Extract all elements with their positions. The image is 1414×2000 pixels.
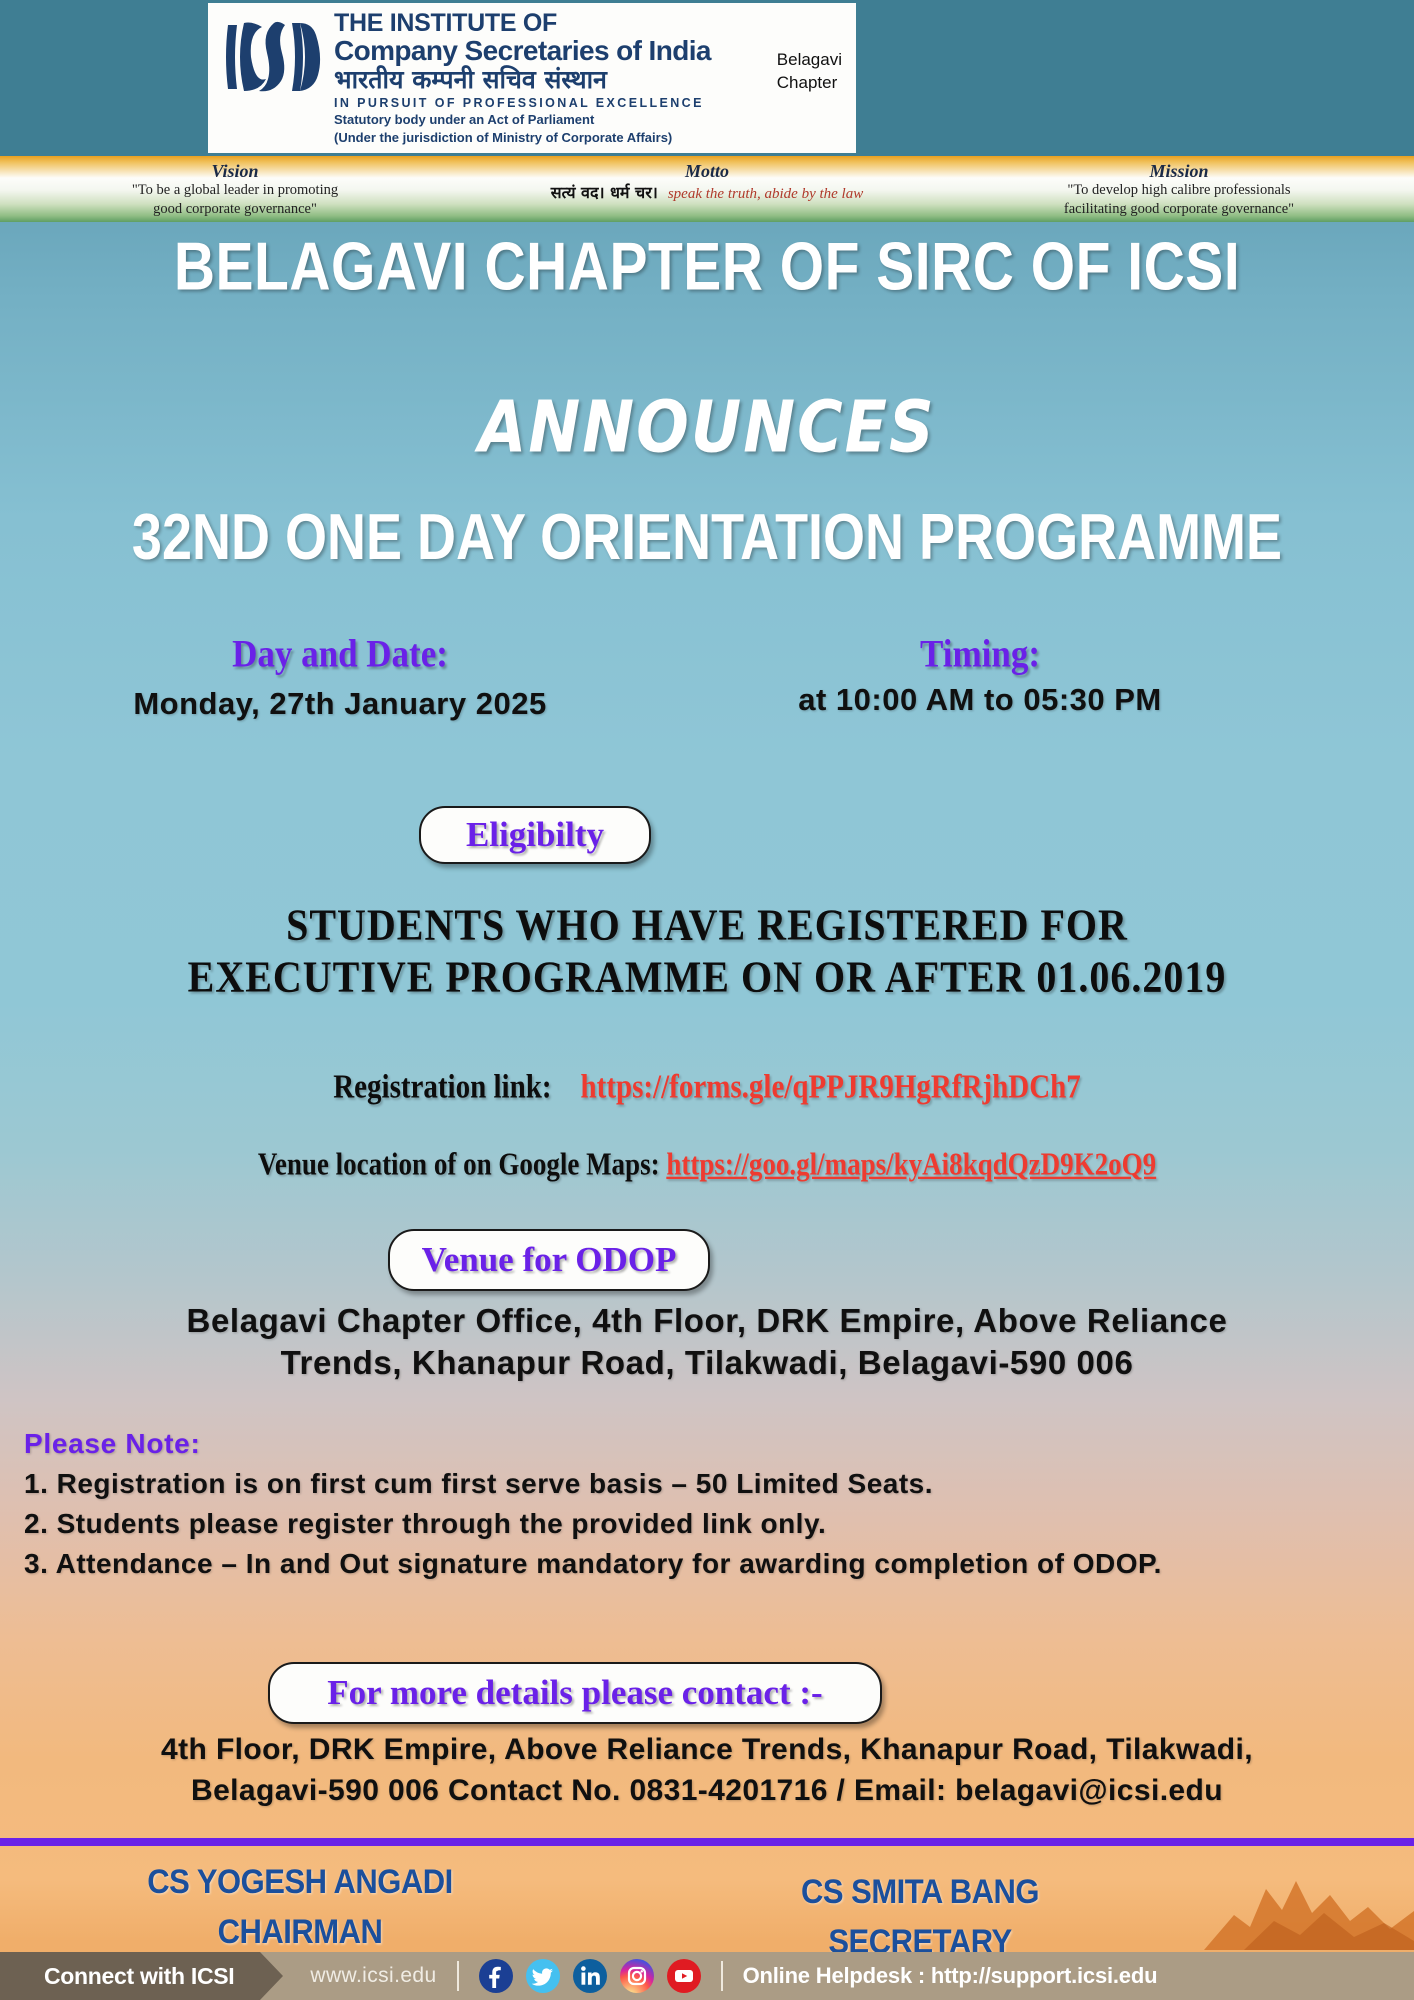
registration-link-label: Registration link: <box>333 1068 551 1106</box>
letterhead-text: THE INSTITUTE OF Company Secretaries of … <box>334 11 846 146</box>
footer-divider-2 <box>721 1961 723 1991</box>
vision-text-line1: "To be a global leader in promoting <box>0 182 470 199</box>
notes-title: Please Note: <box>24 1428 1384 1460</box>
mission-title: Mission <box>944 156 1414 180</box>
motto-title: Motto <box>470 156 944 180</box>
twitter-icon[interactable] <box>526 1959 560 1993</box>
maps-link-row: Venue location of on Google Maps: https:… <box>0 1146 1414 1183</box>
vision-motto-mission-strip: Vision "To be a global leader in promoti… <box>0 156 1414 222</box>
purple-divider <box>0 1838 1414 1846</box>
eligibility-pill: Eligibilty <box>419 806 651 864</box>
youtube-icon[interactable] <box>667 1959 701 1993</box>
motto-english: speak the truth, abide by the law <box>668 186 863 203</box>
chairman-name: CS YOGESH ANGADI <box>40 1857 560 1907</box>
chapter-line1: Belagavi <box>777 49 842 72</box>
footer-bar: Connect with ICSI www.icsi.edu Online He… <box>0 1952 1414 2000</box>
venue-address-line-2: Trends, Khanapur Road, Tilakwadi, Belaga… <box>0 1342 1414 1384</box>
venue-address: Belagavi Chapter Office, 4th Floor, DRK … <box>0 1300 1414 1384</box>
contact-address-line-1: 4th Floor, DRK Empire, Above Reliance Tr… <box>0 1730 1414 1771</box>
maps-link-url[interactable]: https://goo.gl/maps/kyAi8kqdQzD9K2oQ9 <box>666 1146 1156 1181</box>
footer-divider-1 <box>457 1961 459 1991</box>
note-item-3: 3. Attendance – In and Out signature man… <box>24 1548 1384 1580</box>
connect-with-icsi-tag: Connect with ICSI <box>0 1952 260 2000</box>
poster-root: THE INSTITUTE OF Company Secretaries of … <box>0 0 1414 2000</box>
title-line-1: BELAGAVI CHAPTER OF SIRC OF ICSI <box>0 228 1414 306</box>
social-links <box>479 1959 701 1993</box>
contact-address-line-2: Belagavi-590 006 Contact No. 0831-420171… <box>0 1771 1414 1812</box>
title-programme: 32ND ONE DAY ORIENTATION PROGRAMME <box>0 500 1414 574</box>
mission-text-line2: facilitating good corporate governance" <box>944 201 1414 218</box>
motto-row: सत्यं वद। धर्म चर। speak the truth, abid… <box>470 181 944 203</box>
org-hindi: भारतीय कम्पनी सचिव संस्थान <box>334 66 846 94</box>
day-date-value: Monday, 27th January 2025 <box>60 686 620 722</box>
facebook-icon[interactable] <box>479 1959 513 1993</box>
motto-block: Motto सत्यं वद। धर्म चर। speak the truth… <box>470 156 944 222</box>
notes-block: Please Note: 1. Registration is on first… <box>24 1428 1384 1580</box>
venue-pill: Venue for ODOP <box>388 1229 710 1291</box>
org-line2: Company Secretaries of India <box>334 36 846 65</box>
connect-label: Connect with ICSI <box>44 1963 234 1990</box>
secretary-name: CS SMITA BANG <box>660 1867 1180 1917</box>
day-date-block: Day and Date: Monday, 27th January 2025 <box>60 632 620 722</box>
statutory-line1: Statutory body under an Act of Parliamen… <box>334 112 846 128</box>
icsi-letterhead: THE INSTITUTE OF Company Secretaries of … <box>208 3 856 153</box>
note-item-2: 2. Students please register through the … <box>24 1508 1384 1540</box>
maps-link-label: Venue location of on Google Maps: <box>258 1146 660 1181</box>
instagram-icon[interactable] <box>620 1959 654 1993</box>
statutory-line2: (Under the jurisdiction of Ministry of C… <box>334 130 846 146</box>
chapter-name: Belagavi Chapter <box>777 49 842 95</box>
day-date-label: Day and Date: <box>60 632 620 677</box>
mission-text-line1: "To develop high calibre professionals <box>944 182 1414 199</box>
title-announces: ANNOUNCES <box>0 385 1414 469</box>
icsi-logo-icon <box>222 17 322 97</box>
timing-label: Timing: <box>700 632 1260 677</box>
chapter-line2: Chapter <box>777 72 842 95</box>
registration-link-url[interactable]: https://forms.gle/qPPJR9HgRfRjhDCh7 <box>581 1068 1081 1106</box>
timing-block: Timing: at 10:00 AM to 05:30 PM <box>700 632 1260 718</box>
footer-website[interactable]: www.icsi.edu <box>310 1964 436 1988</box>
registration-link-row: Registration link: https://forms.gle/qPP… <box>0 1068 1414 1107</box>
org-tagline: IN PURSUIT OF PROFESSIONAL EXCELLENCE <box>334 96 846 110</box>
venue-address-line-1: Belagavi Chapter Office, 4th Floor, DRK … <box>0 1300 1414 1342</box>
timing-value: at 10:00 AM to 05:30 PM <box>700 682 1260 718</box>
motto-devanagari: सत्यं वद। धर्म चर। <box>551 181 658 203</box>
mountain-silhouette-decor <box>1204 1855 1414 1950</box>
eligibility-line-2: EXECUTIVE PROGRAMME ON OR AFTER 01.06.20… <box>0 950 1414 1003</box>
org-line1: THE INSTITUTE OF <box>334 11 846 36</box>
footer-helpdesk[interactable]: Online Helpdesk : http://support.icsi.ed… <box>743 1963 1158 1989</box>
eligibility-line-1: STUDENTS WHO HAVE REGISTERED FOR <box>0 898 1414 951</box>
contact-address: 4th Floor, DRK Empire, Above Reliance Tr… <box>0 1730 1414 1811</box>
mission-block: Mission "To develop high calibre profess… <box>944 156 1414 222</box>
vision-block: Vision "To be a global leader in promoti… <box>0 156 470 222</box>
linkedin-icon[interactable] <box>573 1959 607 1993</box>
signatory-chairman: CS YOGESH ANGADI CHAIRMAN <box>40 1857 560 1958</box>
contact-pill: For more details please contact :- <box>268 1662 882 1724</box>
note-item-1: 1. Registration is on first cum first se… <box>24 1468 1384 1500</box>
vision-title: Vision <box>0 156 470 180</box>
vision-text-line2: good corporate governance" <box>0 201 470 218</box>
chairman-role: CHAIRMAN <box>40 1907 560 1957</box>
header-band: THE INSTITUTE OF Company Secretaries of … <box>0 0 1414 156</box>
